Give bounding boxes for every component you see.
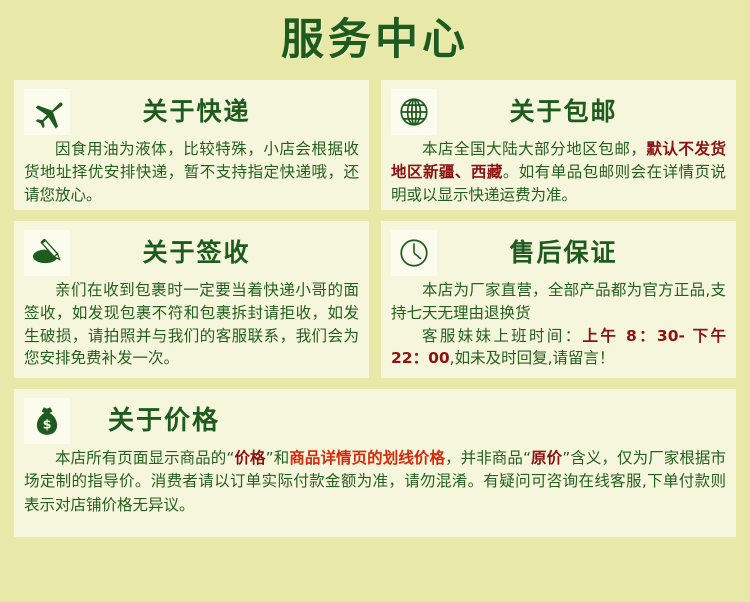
price-seg5: ，并非商品“ xyxy=(445,449,531,467)
service-hours-label: 客服妹妹上班时间： xyxy=(422,327,583,345)
money-bag-icon: $ xyxy=(24,398,70,444)
price-seg3: ”和 xyxy=(266,449,290,467)
card-after-sales-text-2: 客服妹妹上班时间：上午 8：30- 下午 22：00,如未及时回复,请留言！ xyxy=(391,325,726,371)
price-seg1: 本店所有页面显示商品的“ xyxy=(55,449,234,467)
card-after-sales-body: 本店为厂家直营，全部产品都为官方正品,支持七天无理由退换货 客服妹妹上班时间：上… xyxy=(391,279,726,370)
card-free-shipping-text: 本店全国大陆大部分地区包邮，默认不发货地区新疆、西藏。如有单品包邮则会在详情页说… xyxy=(391,138,726,206)
pen-signature-icon xyxy=(24,230,70,276)
card-after-sales: 售后保证 本店为厂家直营，全部产品都为官方正品,支持七天无理由退换货 客服妹妹上… xyxy=(381,221,736,378)
clock-icon xyxy=(391,230,437,276)
card-express-title: 关于快递 xyxy=(70,89,359,135)
card-price-body: 本店所有页面显示商品的“价格”和商品详情页的划线价格，并非商品“原价”含义，仅为… xyxy=(24,447,726,517)
globe-icon xyxy=(391,89,437,135)
price-term-strikethrough: 商品详情页的划线价格 xyxy=(289,449,445,467)
price-term-original: 原价 xyxy=(531,449,562,467)
card-signing-head: 关于签收 xyxy=(24,229,359,277)
service-hours-note: ,如未及时回复,请留言！ xyxy=(450,349,615,367)
card-express-body: 因食用油为液体，比较特殊，小店会根据收货地址择优安排快递，暂不支持指定快递哦，还… xyxy=(24,138,359,206)
card-price-text: 本店所有页面显示商品的“价格”和商品详情页的划线价格，并非商品“原价”含义，仅为… xyxy=(24,447,726,517)
service-center-page: 服务中心 关于快递 因食用油为液体，比较特殊，小店会根据收货地址择优安排快递，暂… xyxy=(0,0,750,602)
page-title-bar: 服务中心 xyxy=(0,0,750,80)
card-express-head: 关于快递 xyxy=(24,88,359,136)
card-signing-title: 关于签收 xyxy=(70,230,359,276)
card-price-title: 关于价格 xyxy=(70,398,726,444)
card-row-1: 关于快递 因食用油为液体，比较特殊，小店会根据收货地址择优安排快递，暂不支持指定… xyxy=(14,80,736,210)
card-signing-text: 亲们在收到包裹时一定要当着快递小哥的面签收，如发现包裹不符和包裹拆封请拒收，如发… xyxy=(24,279,359,370)
card-free-shipping-title: 关于包邮 xyxy=(437,89,726,135)
card-price: $ 关于价格 本店所有页面显示商品的“价格”和商品详情页的划线价格，并非商品“原… xyxy=(14,389,736,537)
card-express-text: 因食用油为液体，比较特殊，小店会根据收货地址择优安排快递，暂不支持指定快递哦，还… xyxy=(24,138,359,206)
card-row-3: $ 关于价格 本店所有页面显示商品的“价格”和商品详情页的划线价格，并非商品“原… xyxy=(14,389,736,537)
svg-text:$: $ xyxy=(43,417,52,432)
shipping-seg1: 本店全国大陆大部分地区包邮， xyxy=(422,140,646,158)
card-express: 关于快递 因食用油为液体，比较特殊，小店会根据收货地址择优安排快递，暂不支持指定… xyxy=(14,80,369,210)
card-after-sales-title: 售后保证 xyxy=(437,230,726,276)
card-after-sales-head: 售后保证 xyxy=(391,229,726,277)
card-row-2: 关于签收 亲们在收到包裹时一定要当着快递小哥的面签收，如发现包裹不符和包裹拆封请… xyxy=(14,221,736,378)
card-signing: 关于签收 亲们在收到包裹时一定要当着快递小哥的面签收，如发现包裹不符和包裹拆封请… xyxy=(14,221,369,378)
cards-grid: 关于快递 因食用油为液体，比较特殊，小店会根据收货地址择优安排快递，暂不支持指定… xyxy=(0,80,750,537)
airplane-icon xyxy=(24,89,70,135)
card-after-sales-text-1: 本店为厂家直营，全部产品都为官方正品,支持七天无理由退换货 xyxy=(391,279,726,325)
card-free-shipping-head: 关于包邮 xyxy=(391,88,726,136)
card-signing-body: 亲们在收到包裹时一定要当着快递小哥的面签收，如发现包裹不符和包裹拆封请拒收，如发… xyxy=(24,279,359,370)
price-term-price: 价格 xyxy=(234,449,265,467)
card-free-shipping: 关于包邮 本店全国大陆大部分地区包邮，默认不发货地区新疆、西藏。如有单品包邮则会… xyxy=(381,80,736,210)
card-price-head: $ 关于价格 xyxy=(24,397,726,445)
page-title: 服务中心 xyxy=(281,19,469,62)
card-free-shipping-body: 本店全国大陆大部分地区包邮，默认不发货地区新疆、西藏。如有单品包邮则会在详情页说… xyxy=(391,138,726,206)
